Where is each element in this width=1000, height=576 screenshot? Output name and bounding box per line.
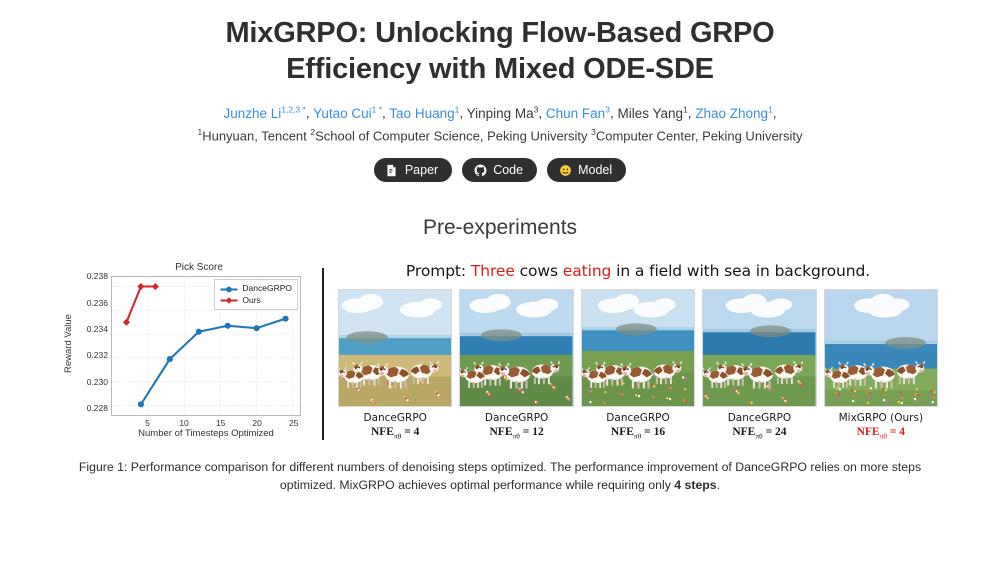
- y-tick-label: 0.228: [75, 404, 108, 413]
- sample-item: DanceGRPONFEπθ = 16: [581, 289, 695, 440]
- affiliation-list: 1Hunyuan, Tencent 2School of Computer Sc…: [0, 127, 1000, 143]
- metric-value: = 12: [520, 426, 544, 438]
- sample-item: DanceGRPONFEπθ = 4: [338, 289, 452, 440]
- metric-subscript: πθ: [755, 432, 762, 441]
- sample-metric-label: NFEπθ = 12: [490, 426, 544, 440]
- legend-item: Ours: [220, 295, 292, 306]
- sample-metric-label: NFEπθ = 4: [371, 426, 419, 440]
- caption-emphasis: 4 steps: [674, 478, 716, 492]
- paper-document-icon: [385, 163, 399, 177]
- affiliation-text: Hunyuan, Tencent: [202, 128, 310, 143]
- vertical-divider: [322, 268, 324, 440]
- title-line-2: Efficiency with Mixed ODE-SDE: [0, 52, 1000, 88]
- button-label: Paper: [405, 164, 438, 177]
- author-name: Yinping Ma3: [467, 106, 539, 121]
- figure-1: Pick Score Reward Value 0.2380.2360.2340…: [0, 262, 1000, 440]
- metric-subscript: πθ: [513, 432, 520, 441]
- title-line-1: MixGRPO: Unlocking Flow-Based GRPO: [225, 17, 774, 49]
- page-title: MixGRPO: Unlocking Flow-Based GRPO Effic…: [0, 0, 1000, 87]
- figure-caption: Figure 1: Performance comparison for dif…: [72, 459, 928, 495]
- sample-image[interactable]: [459, 289, 573, 407]
- caption-text-end: .: [717, 478, 720, 492]
- affiliation-text: Computer Center, Peking University: [596, 128, 803, 143]
- chart-y-axis-label: Reward Value: [62, 276, 75, 416]
- author-affiliation-marker: 1,2,3 *: [281, 104, 306, 114]
- y-tick-label: 0.232: [75, 351, 108, 360]
- chart-title: Pick Score: [88, 262, 310, 273]
- legend-marker-diamond-icon: [220, 296, 238, 305]
- legend-label: Ours: [242, 295, 260, 306]
- pick-score-chart: Pick Score Reward Value 0.2380.2360.2340…: [62, 262, 310, 439]
- x-tick-label: 15: [216, 418, 225, 428]
- huggingface-icon: [558, 163, 572, 177]
- resource-button-row: PaperCodeModel: [0, 158, 1000, 182]
- prompt-highlight: eating: [563, 262, 611, 280]
- author-name[interactable]: Tao Huang1: [389, 106, 459, 121]
- sample-method-label: MixGRPO (Ours): [839, 412, 923, 424]
- metric-value: = 4: [887, 426, 905, 438]
- x-tick-label: 10: [179, 418, 188, 428]
- author-affiliation-marker: 1 *: [372, 104, 382, 114]
- sample-metric-label: NFEπθ = 16: [611, 426, 665, 440]
- chart-plot-area: DanceGRPOOurs: [111, 276, 301, 416]
- chart-y-tick-labels: 0.2380.2360.2340.2320.2300.228: [75, 276, 111, 416]
- metric-name: NFE: [490, 426, 513, 438]
- author-name: Miles Yang1: [617, 106, 687, 121]
- prompt-highlight: Three: [471, 262, 515, 280]
- y-tick-label: 0.234: [75, 325, 108, 334]
- sample-image[interactable]: [581, 289, 695, 407]
- x-tick-label: 5: [145, 418, 150, 428]
- sample-item: MixGRPO (Ours)NFEπθ = 4: [824, 289, 938, 440]
- chart-legend: DanceGRPOOurs: [214, 279, 298, 310]
- y-tick-label: 0.236: [75, 299, 108, 308]
- sample-item: DanceGRPONFEπθ = 12: [459, 289, 573, 440]
- metric-value: = 4: [401, 426, 419, 438]
- author-separator: ,: [306, 106, 313, 121]
- legend-label: DanceGRPO: [242, 283, 292, 294]
- sample-method-label: DanceGRPO: [363, 412, 426, 424]
- thumbnail-row: DanceGRPONFEπθ = 4DanceGRPONFEπθ = 12Dan…: [338, 289, 938, 440]
- metric-name: NFE: [857, 426, 880, 438]
- legend-item: DanceGRPO: [220, 283, 292, 294]
- sample-image[interactable]: [824, 289, 938, 407]
- legend-marker-circle-icon: [220, 285, 238, 294]
- chart-x-axis-label: Number of Timesteps Optimized: [111, 428, 301, 439]
- metric-name: NFE: [611, 426, 634, 438]
- paper-landing-page: MixGRPO: Unlocking Flow-Based GRPO Effic…: [0, 0, 1000, 576]
- prompt-prefix: Prompt:: [406, 262, 471, 280]
- author-list: Junzhe Li1,2,3 *, Yutao Cui1 *, Tao Huan…: [0, 103, 1000, 124]
- button-label: Model: [578, 164, 612, 177]
- sample-method-label: DanceGRPO: [485, 412, 548, 424]
- model-button[interactable]: Model: [547, 158, 626, 182]
- code-button[interactable]: Code: [462, 158, 537, 182]
- metric-subscript: πθ: [880, 432, 887, 441]
- metric-name: NFE: [732, 426, 755, 438]
- metric-value: = 24: [763, 426, 787, 438]
- y-tick-label: 0.230: [75, 378, 108, 387]
- button-label: Code: [493, 164, 523, 177]
- prompt-text-part: cows: [515, 262, 563, 280]
- chart-x-tick-labels: 510152025: [111, 416, 301, 427]
- sample-image[interactable]: [338, 289, 452, 407]
- sample-metric-label: NFEπθ = 24: [732, 426, 786, 440]
- paper-button[interactable]: Paper: [374, 158, 452, 182]
- github-icon: [473, 163, 487, 177]
- author-name[interactable]: Yutao Cui1 *: [313, 106, 382, 121]
- sample-item: DanceGRPONFEπθ = 24: [702, 289, 816, 440]
- metric-value: = 16: [641, 426, 665, 438]
- author-separator: ,: [773, 106, 777, 121]
- prompt-text-part: in a field with sea in background.: [611, 262, 870, 280]
- sample-method-label: DanceGRPO: [606, 412, 669, 424]
- author-name[interactable]: Zhao Zhong1: [695, 106, 773, 121]
- prompt-text: Prompt: Three cows eating in a field wit…: [338, 262, 938, 280]
- metric-name: NFE: [371, 426, 394, 438]
- sample-metric-label: NFEπθ = 4: [857, 426, 905, 440]
- author-separator: ,: [538, 106, 546, 121]
- x-tick-label: 25: [289, 418, 298, 428]
- y-tick-label: 0.238: [75, 272, 108, 281]
- author-name[interactable]: Chun Fan3: [546, 106, 610, 121]
- author-name[interactable]: Junzhe Li1,2,3 *: [223, 106, 305, 121]
- caption-text: Figure 1: Performance comparison for dif…: [79, 460, 921, 492]
- x-tick-label: 20: [252, 418, 261, 428]
- affiliation-text: School of Computer Science, Peking Unive…: [315, 128, 591, 143]
- sample-image[interactable]: [702, 289, 816, 407]
- sample-method-label: DanceGRPO: [728, 412, 791, 424]
- section-heading: Pre-experiments: [0, 216, 1000, 240]
- sample-gallery: Prompt: Three cows eating in a field wit…: [338, 262, 938, 440]
- author-separator: ,: [459, 106, 466, 121]
